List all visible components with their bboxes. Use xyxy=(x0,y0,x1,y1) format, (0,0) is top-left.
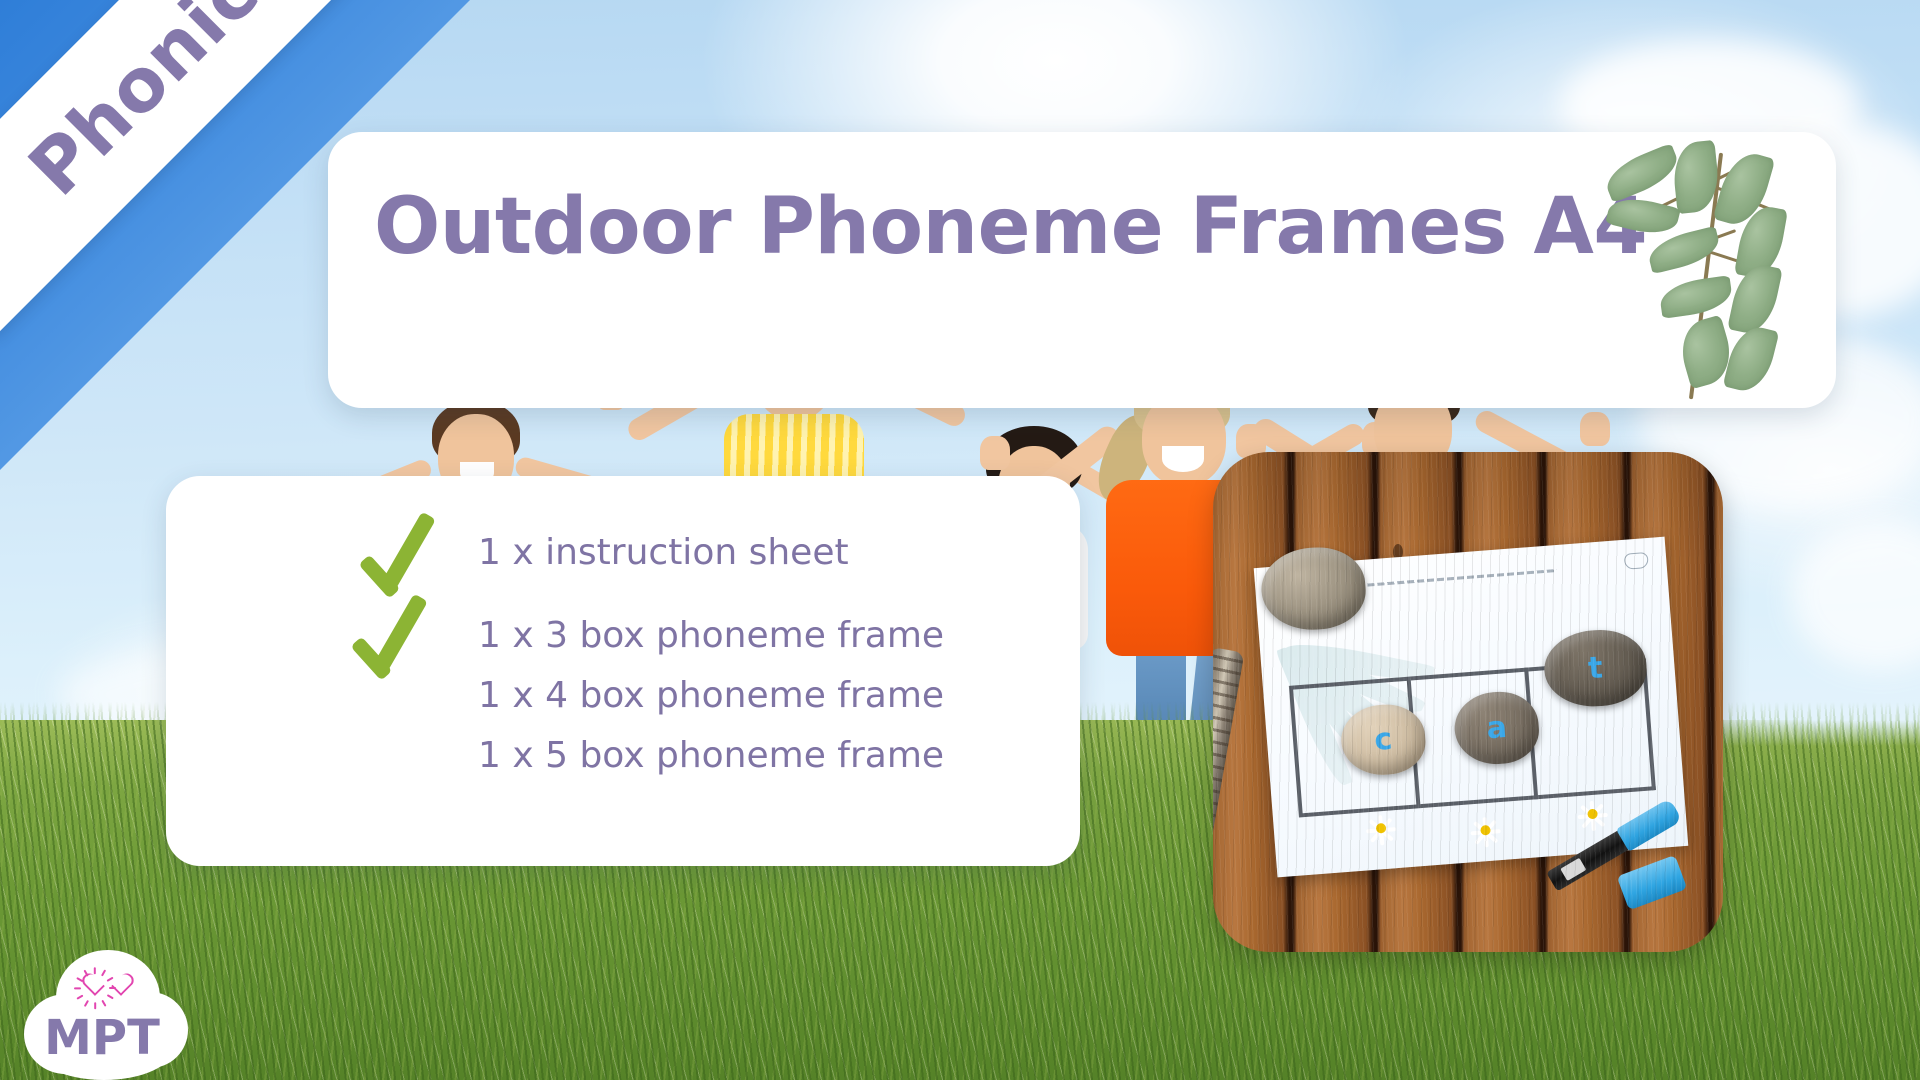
check-icon xyxy=(348,590,440,686)
title-card: Outdoor Phoneme Frames A4 xyxy=(328,132,1836,408)
plain-pebble xyxy=(1258,544,1368,634)
phoneme-box xyxy=(1528,658,1656,799)
wooden-stick xyxy=(1213,647,1244,899)
phoneme-box xyxy=(1410,668,1538,809)
list-item: 1 x 4 box phoneme frame xyxy=(478,675,944,716)
poster-canvas: c a t xyxy=(0,0,1920,1080)
pebble-letter: c xyxy=(1340,719,1426,760)
letter-pebble-t: t xyxy=(1542,627,1650,711)
eucalyptus-branch-icon xyxy=(1588,138,1818,406)
phoneme-boxes xyxy=(1289,658,1656,817)
daisy-flower xyxy=(1470,816,1502,844)
daisy-flower xyxy=(1365,814,1397,842)
daisy-flower xyxy=(1577,800,1609,828)
blue-marker-pen xyxy=(1544,798,1680,895)
contents-checklist-card: 1 x instruction sheet 1 x 3 box phoneme … xyxy=(166,476,1080,866)
pebble-letter: t xyxy=(1543,647,1647,690)
product-photo: c a t xyxy=(1213,452,1723,952)
letter-pebble-a: a xyxy=(1452,689,1541,767)
brand-name: MPT xyxy=(20,1010,184,1066)
list-item: 1 x 5 box phoneme frame xyxy=(478,735,944,776)
sheet-logo-icon xyxy=(1624,552,1649,570)
list-item: 1 x 3 box phoneme frame xyxy=(478,615,944,656)
list-item: 1 x instruction sheet xyxy=(478,532,849,573)
letter-pebble-c: c xyxy=(1339,702,1428,778)
phoneme-frame-sheet: c a t xyxy=(1254,537,1689,878)
sheet-instruction-text xyxy=(1327,569,1557,590)
heart-sparkle-icon xyxy=(84,962,134,1012)
brand-logo[interactable]: MPT xyxy=(20,940,190,1080)
page-title: Outdoor Phoneme Frames A4 xyxy=(374,182,1656,272)
marker-cap xyxy=(1617,855,1688,910)
phoneme-box xyxy=(1289,677,1421,818)
sheet-leaf-watermark xyxy=(1285,621,1491,845)
pebble-letter: a xyxy=(1453,707,1539,748)
